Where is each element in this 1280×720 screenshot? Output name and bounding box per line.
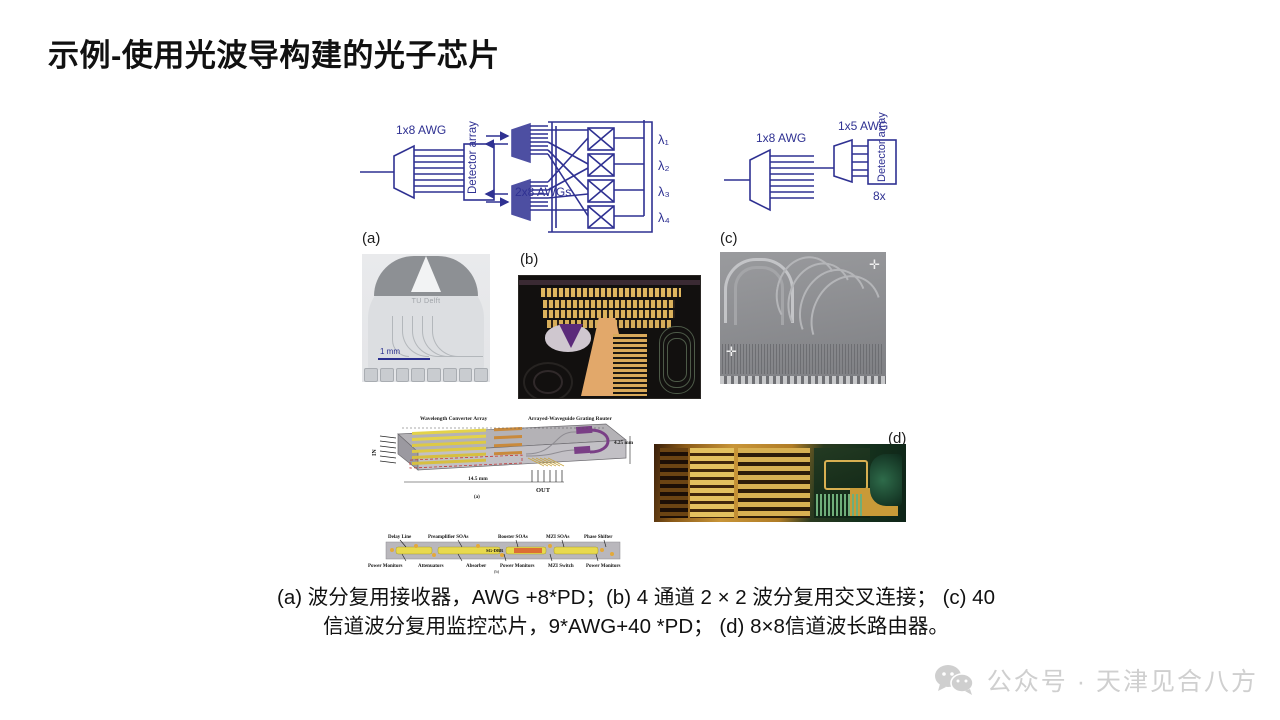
awg-label-1x8-left: 1x8 AWG	[396, 123, 446, 137]
strip-panel-label: (b)	[494, 569, 500, 574]
in-label: IN	[372, 449, 378, 456]
detail-bottom-label-5: Power Monitors	[586, 564, 621, 569]
contact-pad-column	[660, 448, 688, 518]
detail-top-label-2: Booster SOAs	[498, 535, 528, 540]
detail-strip-svg: SG-DBR Delay Line Preamplifier SOAs Boos…	[366, 528, 634, 574]
schematic-svg: 1x8 AWG 2x8 AWGs 1x8 AWG 1x5 AWG 8x λ₁ λ…	[352, 112, 912, 240]
detector-array-label-left: Detector array	[467, 121, 479, 194]
panel-b-chip-photo	[518, 275, 701, 399]
detail-top-label-3: MZI SOAs	[546, 535, 570, 540]
width-dimension-label: 4.25 mm	[614, 440, 634, 446]
detector-array-label-right: Detector array	[876, 112, 888, 182]
wechat-icon	[934, 664, 974, 696]
spiral-waveguide	[533, 370, 563, 394]
watermark-text: 公众号 · 天津见合八方	[987, 662, 1258, 698]
awg-slab	[824, 460, 868, 490]
prism-region	[559, 324, 583, 348]
panel-a-logo: TU Delft	[412, 298, 441, 305]
delay-loop	[667, 338, 687, 382]
detail-bottom-label-4: MZI Switch	[548, 564, 574, 569]
alignment-mark-icon: ✛	[726, 345, 737, 358]
bond-pad	[474, 368, 488, 382]
scale-bar-label: 1 mm	[380, 347, 400, 356]
panel-c-awg-photo: ✛ ✛	[720, 252, 886, 384]
panel-b-label: (b)	[520, 251, 538, 268]
detail-top-label-4: Phase Shifter	[584, 535, 613, 540]
pad-row	[543, 300, 675, 308]
schematic-diagrams: 1x8 AWG 2x8 AWGs 1x8 AWG 1x5 AWG 8x λ₁ λ…	[352, 112, 912, 240]
pad-row	[543, 310, 675, 318]
bottom-3d-diagram: Wavelength Converter Array Arrayed-Waveg…	[368, 412, 636, 510]
panel-b-top-bar	[519, 280, 700, 285]
bond-pad	[459, 368, 473, 382]
panel-d-chip-photo	[654, 444, 906, 522]
bottom-3d-svg: Wavelength Converter Array Arrayed-Waveg…	[368, 412, 636, 510]
detail-top-label-1: Preamplifier SOAs	[428, 535, 469, 540]
awg-router-label: Arrayed-Waveguide Grating Router	[528, 416, 612, 422]
detail-top-label-0: Delay Line	[388, 535, 412, 540]
watermark: 公众号 · 天津见合八方	[934, 662, 1258, 698]
panel-a-bond-pads	[362, 368, 490, 382]
multiplier-label-8x: 8x	[873, 189, 886, 203]
panel-a-notch	[411, 256, 441, 292]
alignment-mark-icon: ✛	[869, 258, 880, 271]
scale-bar	[378, 358, 430, 360]
detail-bottom-label-2: Absorber	[466, 564, 487, 569]
panel-a-label: (a)	[362, 230, 380, 247]
sub-panel-label: (a)	[474, 495, 480, 500]
bond-pad	[364, 368, 378, 382]
lambda-3-label: λ₃	[658, 184, 670, 199]
waveguide-fan	[816, 494, 864, 516]
grating-lens	[870, 454, 902, 506]
bond-pad	[427, 368, 441, 382]
detail-bottom-label-3: Power Monitors	[500, 564, 535, 569]
detail-bottom-label-1: Attenuators	[418, 564, 444, 569]
awg-label-1x8-right: 1x8 AWG	[756, 131, 806, 145]
figure-caption: (a) 波分复用接收器，AWG +8*PD；(b) 4 通道 2 × 2 波分复…	[265, 583, 1007, 641]
bond-pad	[396, 368, 410, 382]
panel-c-label: (c)	[720, 230, 738, 247]
pad-row	[541, 288, 681, 297]
bond-pad	[411, 368, 425, 382]
waveguide-fan	[722, 344, 882, 374]
bond-pad	[443, 368, 457, 382]
awgs-label-2x8: 2x8 AWGs	[515, 185, 571, 199]
soa-array	[690, 448, 734, 518]
waveguide-array	[738, 448, 810, 518]
panel-a-chip-photo: TU Delft 1 mm	[362, 254, 490, 382]
bottom-detail-strip: SG-DBR Delay Line Preamplifier SOAs Boos…	[366, 528, 634, 574]
length-dimension-label: 14.5 mm	[468, 476, 488, 482]
wavelength-converter-array-label: Wavelength Converter Array	[420, 416, 488, 422]
lambda-4-label: λ₄	[658, 210, 670, 225]
figure-container: 1x8 AWG 2x8 AWGs 1x8 AWG 1x5 AWG 8x λ₁ λ…	[352, 112, 912, 567]
out-label: OUT	[536, 487, 551, 494]
sg-dbr-label: SG-DBR	[486, 548, 504, 553]
panel-c-bond-pads	[720, 376, 886, 384]
bond-pad	[380, 368, 394, 382]
waveguide-comb	[613, 334, 647, 396]
page-title: 示例-使用光波导构建的光子芯片	[48, 30, 500, 75]
lambda-2-label: λ₂	[658, 158, 670, 173]
slide-root: 示例-使用光波导构建的光子芯片	[0, 0, 1280, 720]
detail-bottom-label-0: Power Monitors	[368, 564, 403, 569]
lambda-1-label: λ₁	[658, 132, 670, 147]
